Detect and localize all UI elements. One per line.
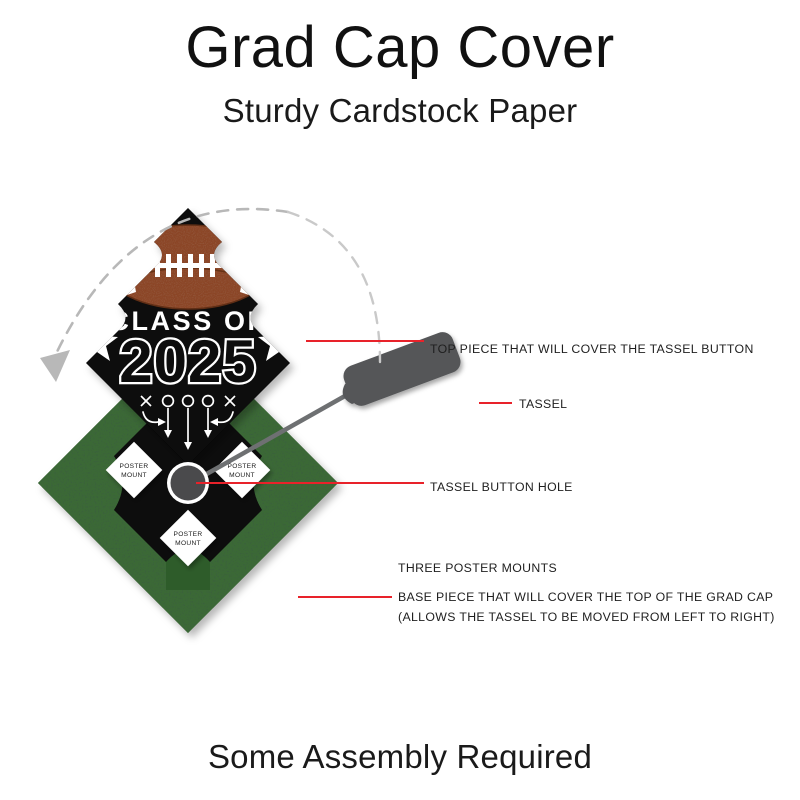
- callout-poster-mounts-line2: (ALLOWS THE TASSEL TO BE MOVED FROM LEFT…: [398, 609, 775, 625]
- poster-mount-label-line2: MOUNT: [121, 472, 147, 479]
- callout-tassel: TASSEL: [519, 396, 567, 412]
- poster-mount-label-line1: POSTER: [120, 463, 149, 470]
- callout-top-piece: TOP PIECE THAT WILL COVER THE TASSEL BUT…: [430, 341, 754, 357]
- assembly-arc-right: [288, 212, 380, 362]
- poster-mount-label-line1: POSTER: [228, 463, 257, 470]
- callout-tassel-button-hole: TASSEL BUTTON HOLE: [430, 479, 573, 495]
- football-icon: [105, 225, 271, 309]
- poster-mount-label-line1: POSTER: [174, 531, 203, 538]
- poster-mount-label-line2: MOUNT: [229, 472, 255, 479]
- product-illustration: POSTER MOUNT POSTER MOUNT POSTER MOUNT: [0, 150, 800, 730]
- callout-poster-mounts: THREE POSTER MOUNTS (ALLOWS THE TASSEL T…: [398, 528, 775, 642]
- graduation-year: 2025: [119, 328, 256, 395]
- callout-poster-mounts-line1: THREE POSTER MOUNTS: [398, 560, 775, 576]
- page-subtitle: Sturdy Cardstock Paper: [0, 92, 800, 130]
- poster-mount-label-line2: MOUNT: [175, 540, 201, 547]
- callout-base-piece: BASE PIECE THAT WILL COVER THE TOP OF TH…: [398, 589, 773, 605]
- page-title: Grad Cap Cover: [0, 18, 800, 79]
- assembly-note: Some Assembly Required: [0, 738, 800, 776]
